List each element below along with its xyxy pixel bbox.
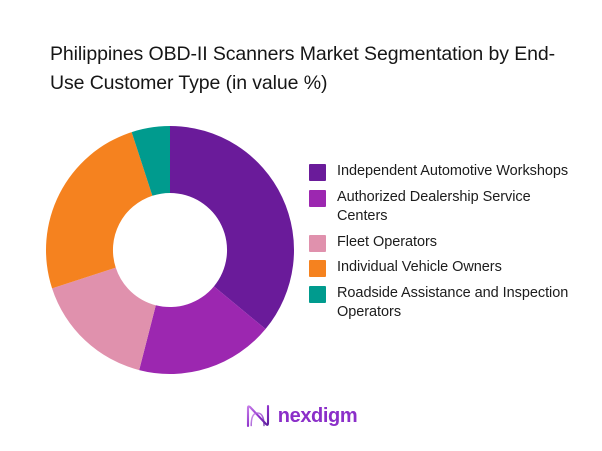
page-title: Philippines OBD-II Scanners Market Segme…: [50, 40, 575, 98]
legend-item-label: Individual Vehicle Owners: [337, 258, 502, 278]
legend-item-label: Roadside Assistance and Inspection Opera…: [337, 284, 575, 323]
chart-legend: Independent Automotive WorkshopsAuthoriz…: [309, 162, 575, 323]
legend-item[interactable]: Fleet Operators: [309, 233, 575, 253]
legend-item[interactable]: Authorized Dealership Service Centers: [309, 188, 575, 227]
legend-item-label: Authorized Dealership Service Centers: [337, 188, 575, 227]
legend-item[interactable]: Independent Automotive Workshops: [309, 162, 575, 182]
legend-swatch-icon: [309, 235, 326, 252]
legend-item-label: Independent Automotive Workshops: [337, 162, 568, 182]
donut-chart-svg: [44, 124, 296, 376]
donut-slice[interactable]: [46, 132, 152, 288]
brand-logo: nexdigm: [0, 404, 602, 428]
brand-name: nexdigm: [278, 406, 357, 426]
legend-item[interactable]: Individual Vehicle Owners: [309, 258, 575, 278]
donut-chart: [44, 124, 296, 376]
legend-swatch-icon: [309, 190, 326, 207]
legend-item[interactable]: Roadside Assistance and Inspection Opera…: [309, 284, 575, 323]
donut-slice-group: [46, 126, 294, 374]
legend-item-label: Fleet Operators: [337, 233, 437, 253]
legend-swatch-icon: [309, 286, 326, 303]
legend-swatch-icon: [309, 164, 326, 181]
chart-page: Philippines OBD-II Scanners Market Segme…: [0, 0, 602, 451]
donut-slice[interactable]: [170, 126, 294, 329]
legend-swatch-icon: [309, 260, 326, 277]
nexdigm-n-mark-icon: [245, 404, 271, 428]
